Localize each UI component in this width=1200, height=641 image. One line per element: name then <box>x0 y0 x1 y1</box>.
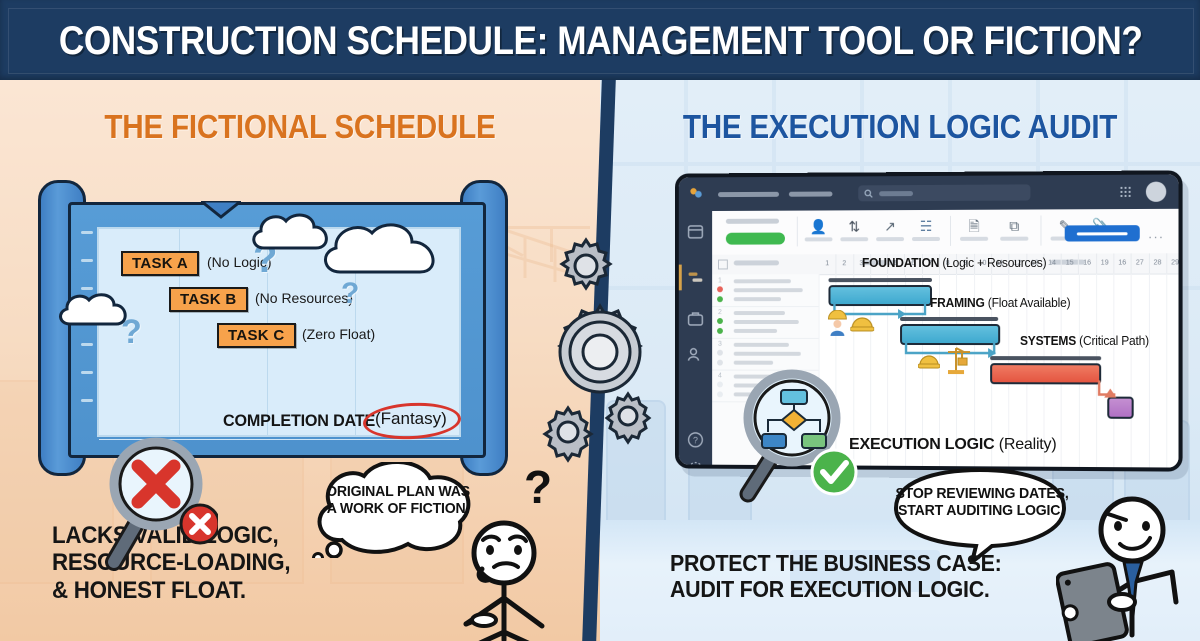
question-mark-2: ? <box>341 277 359 311</box>
blueprint-drawing: TASK A (No Logic) TASK B (No Resources) … <box>38 180 508 470</box>
task-note-c: (Zero Float) <box>302 326 375 342</box>
left-bubble-line-2: A WORK OF FICTION. <box>325 501 472 518</box>
task-chip-a: TASK A <box>121 251 199 276</box>
toolbar-sort-button[interactable]: ⇅ <box>840 219 868 241</box>
right-bubble-line-2: START AUDITING LOGIC. <box>895 503 1066 520</box>
gantt-label-framing: FRAMING (Float Available) <box>930 296 1070 310</box>
link-path-icon: ↗ <box>876 219 904 234</box>
page-title: CONSTRUCTION SCHEDULE: MANAGEMENT TOOL O… <box>59 21 1143 61</box>
toolbar-link-path-button[interactable]: ↗ <box>876 219 904 241</box>
report-icon: 🗎 <box>960 219 988 234</box>
task-chip-c: TASK C <box>217 323 296 348</box>
topbar-menu-2[interactable] <box>789 191 833 196</box>
left-bubble-text: ORIGINAL PLAN WAS A WORK OF FICTION. <box>325 484 472 518</box>
toolbar-sep-1 <box>797 217 798 247</box>
toolbar-cta-button[interactable] <box>1065 225 1140 241</box>
avatar[interactable] <box>1146 182 1166 202</box>
worker-icon <box>826 310 848 336</box>
crane-icon <box>944 344 974 376</box>
right-takeaway-copy: PROTECT THE BUSINESS CASE: AUDIT FOR EXE… <box>670 550 1001 602</box>
app-logo-icon <box>689 186 705 202</box>
right-copy-line-1: PROTECT THE BUSINESS CASE: <box>670 550 1001 576</box>
header-banner: CONSTRUCTION SCHEDULE: MANAGEMENT TOOL O… <box>0 0 1200 80</box>
resource-icon: ☵ <box>912 219 940 234</box>
cloud-icon-3 <box>56 290 132 328</box>
task-chip-b: TASK B <box>169 287 248 312</box>
copy-icon: ⧉ <box>1000 219 1028 234</box>
sort-icon: ⇅ <box>840 219 868 234</box>
app-grid-menu-icon[interactable] <box>1119 186 1131 198</box>
hardhat-icon <box>850 314 874 332</box>
toolbar-user-button[interactable]: 👤 <box>805 219 833 241</box>
toolbar-report-button[interactable]: 🗎 <box>960 219 988 241</box>
right-section-title: THE EXECUTION LOGIC AUDIT <box>630 108 1170 146</box>
gantt-label-systems: SYSTEMS (Critical Path) <box>1020 334 1149 348</box>
app-topbar <box>679 174 1179 211</box>
stick-figure-confused <box>442 520 562 641</box>
toolbar-copy-button[interactable]: ⧉ <box>1000 219 1028 241</box>
stick-figure-confident <box>1056 490 1196 641</box>
gears-cluster-icon <box>528 218 698 478</box>
topbar-menu-1[interactable] <box>718 191 779 196</box>
toolbar-sep-2 <box>950 216 951 246</box>
toolbar-sep-3 <box>1040 215 1041 245</box>
left-bubble-line-1: ORIGINAL PLAN WAS <box>325 484 472 501</box>
infographic-canvas: CONSTRUCTION SCHEDULE: MANAGEMENT TOOL O… <box>0 0 1200 641</box>
magnifier-audit-icon <box>734 368 859 503</box>
completion-date-value: (Fantasy) <box>375 409 447 429</box>
execution-logic-label: EXECUTION LOGIC (Reality) <box>849 436 1056 454</box>
toolbar-overflow-button[interactable]: ··· <box>1148 229 1164 244</box>
task-note-b: (No Resources) <box>255 290 353 306</box>
left-section-title: THE FICTIONAL SCHEDULE <box>30 108 570 146</box>
search-icon <box>864 189 873 198</box>
right-copy-line-2: AUDIT FOR EXECUTION LOGIC. <box>670 576 1001 602</box>
left-panel: THE FICTIONAL SCHEDULE <box>0 80 600 641</box>
toolbar-project-name <box>726 219 779 224</box>
hardhat-icon-2 <box>918 352 940 369</box>
completion-date-label: COMPLETION DATE <box>223 411 375 431</box>
right-bubble-text: STOP REVIEWING DATES, START AUDITING LOG… <box>895 486 1066 520</box>
cloud-icon-2 <box>318 220 448 278</box>
right-bubble-line-1: STOP REVIEWING DATES, <box>895 486 1066 503</box>
app-toolbar: 👤 ⇅ ↗ ☵ 🗎 ⧉ <box>712 209 1178 256</box>
toolbar-primary-chip[interactable] <box>726 233 785 245</box>
magnifier-reject-icon <box>98 436 218 576</box>
user-icon: 👤 <box>805 219 833 234</box>
header-frame: CONSTRUCTION SCHEDULE: MANAGEMENT TOOL O… <box>8 8 1194 74</box>
toolbar-resource-button[interactable]: ☵ <box>912 219 940 241</box>
search-input[interactable] <box>858 184 1030 201</box>
gantt-label-foundation: FOUNDATION (Logic + Resources) <box>862 256 1046 270</box>
left-copy-line-3: & HONEST FLOAT. <box>52 577 290 604</box>
search-placeholder <box>879 191 913 196</box>
